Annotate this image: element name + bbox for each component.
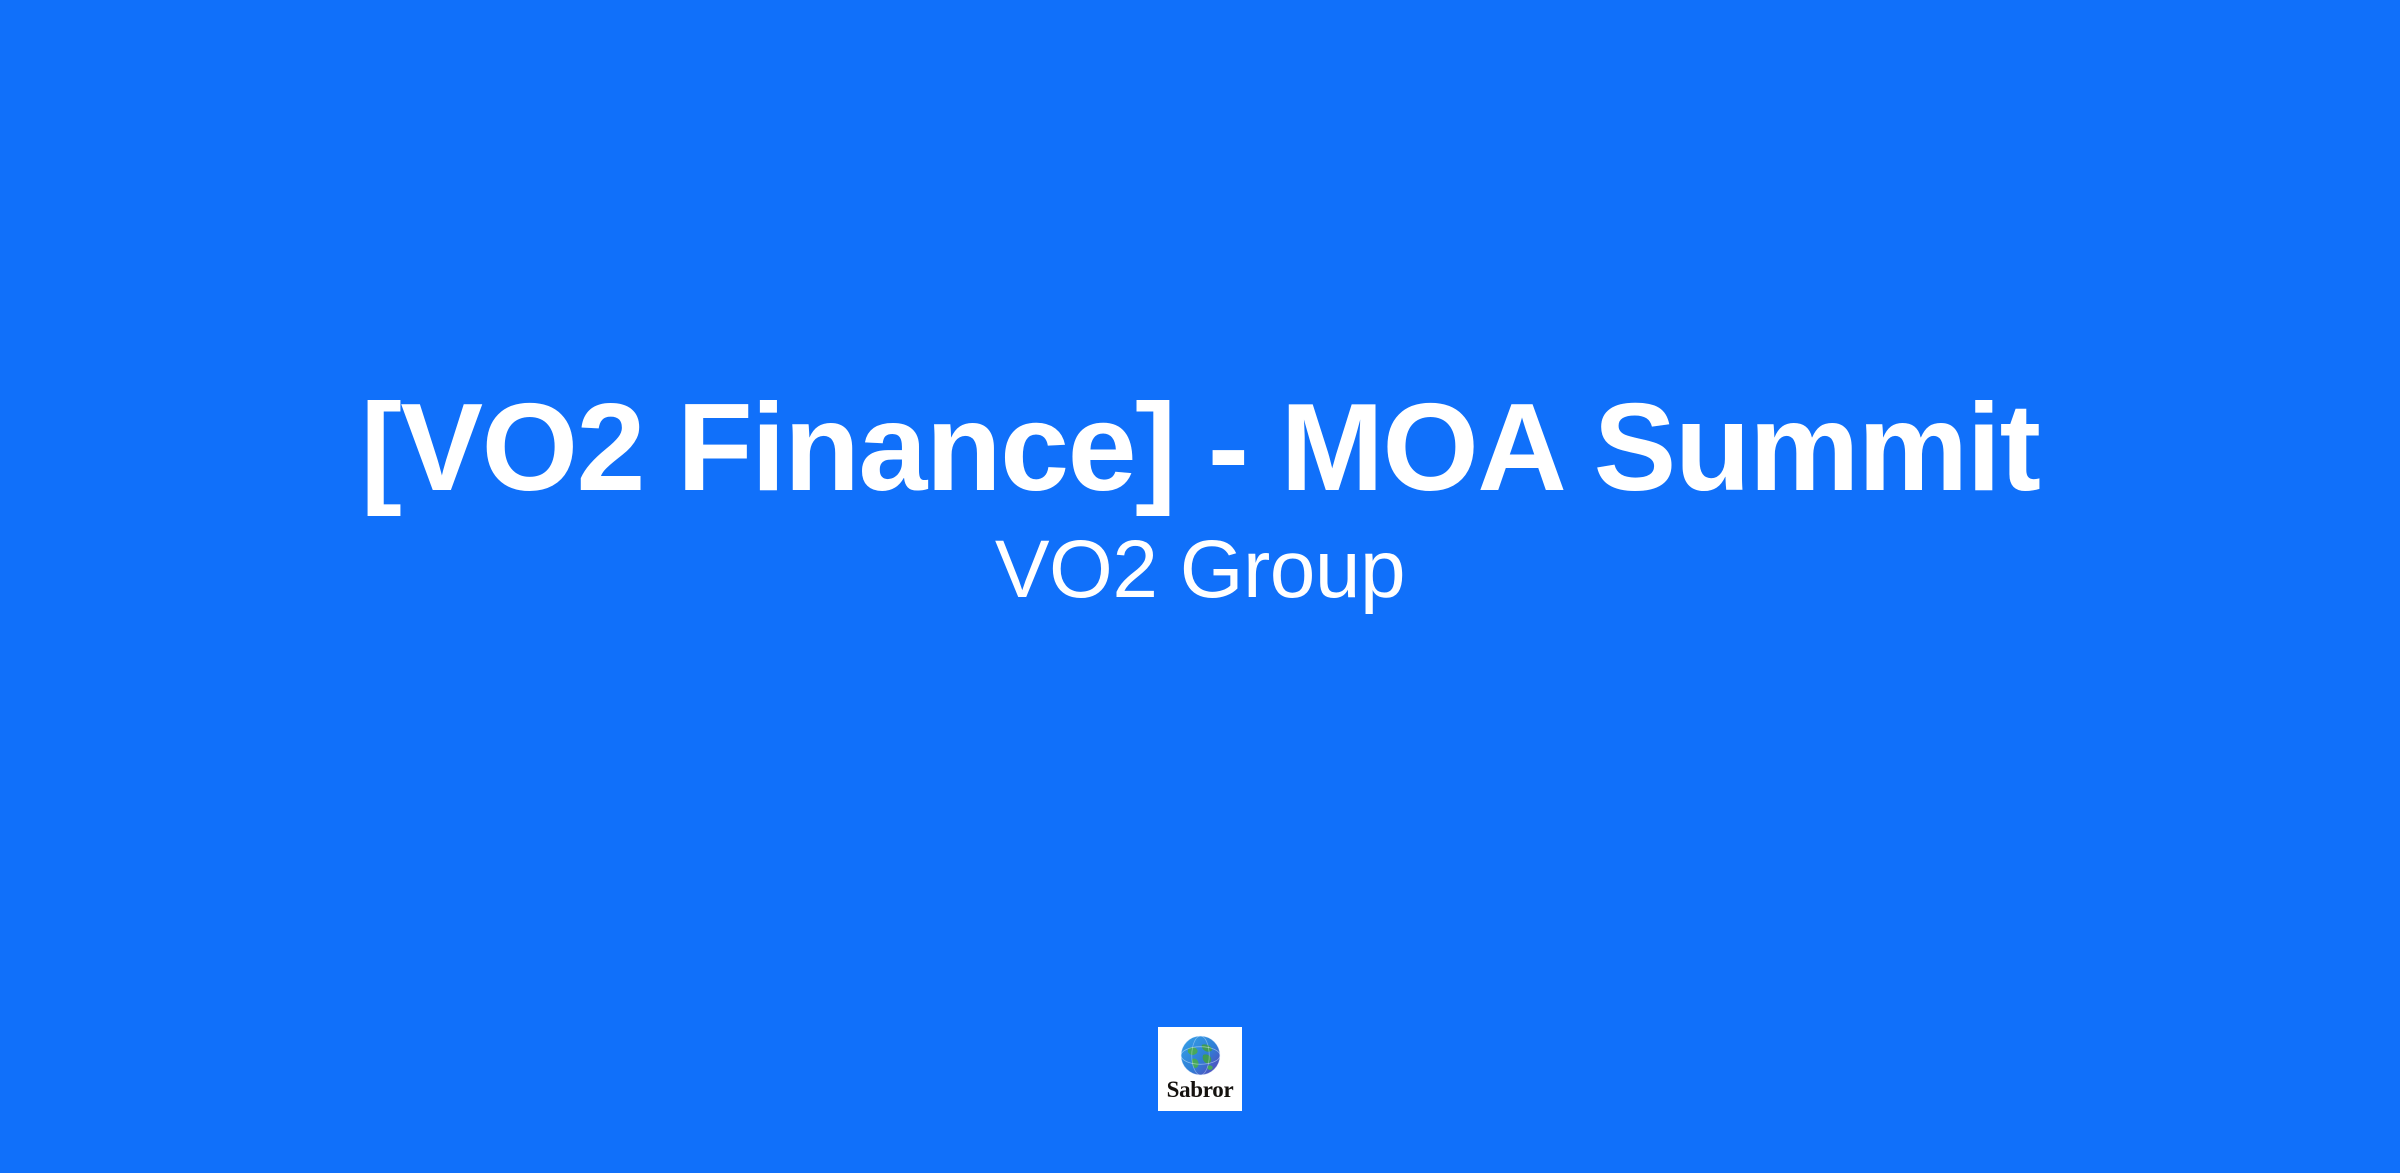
title-block: [VO2 Finance] - MOA Summit VO2 Group <box>0 382 2400 616</box>
globe-icon <box>1179 1034 1222 1077</box>
logo-wordmark: Sabror <box>1167 1078 1234 1101</box>
title-slide: [VO2 Finance] - MOA Summit VO2 Group <box>0 0 2400 1173</box>
page-subtitle: VO2 Group <box>0 524 2400 616</box>
footer-logo: Sabror <box>1158 1027 1242 1111</box>
page-title: [VO2 Finance] - MOA Summit <box>0 382 2400 516</box>
